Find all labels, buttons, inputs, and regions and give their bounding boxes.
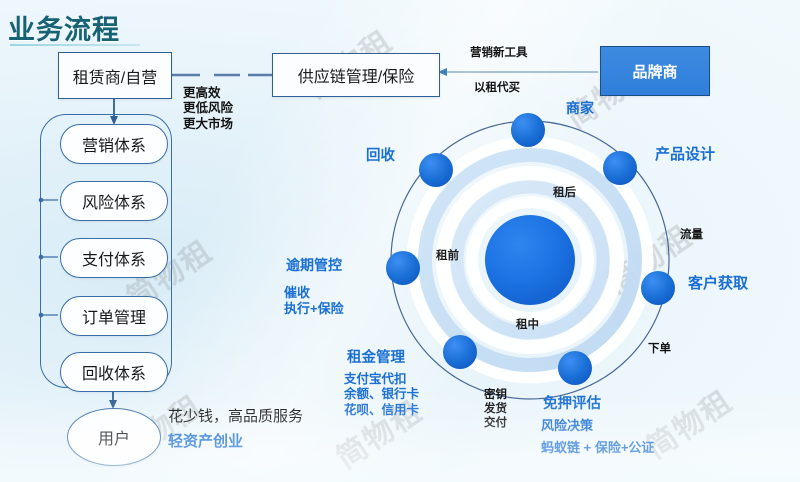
stack-item-recycling[interactable]: 回收体系: [60, 352, 168, 392]
label-slogan-primary: 花少钱，高品质服务: [168, 408, 303, 426]
box-supply-chain-insurance[interactable]: 供应链管理/保险: [272, 53, 440, 97]
annotation-rent-payment-methods: 支付宝代扣 余额、银行卡 花呗、信用卡: [344, 372, 419, 418]
ring-label-during-rental: 租中: [516, 318, 539, 332]
stack-item-order[interactable]: 订单管理: [60, 296, 168, 336]
label-slogan-secondary: 轻资产创业: [168, 433, 243, 451]
annotation-overdue-detail: 催收 执行+保险: [284, 285, 344, 317]
slide-canvas: 简物租 简物租 简物租 简物租 简物租 简物租 简物租: [0, 0, 800, 482]
ring-label-before-rental: 租前: [436, 249, 459, 263]
node-label-deposit-free-assessment[interactable]: 免押评估: [543, 396, 601, 414]
node-label-recycle[interactable]: 回收: [366, 148, 395, 166]
node-label-rent-management[interactable]: 租金管理: [347, 350, 405, 368]
node-label-merchant[interactable]: 商家: [566, 100, 594, 117]
node-label-customer-acquisition[interactable]: 客户获取: [688, 275, 748, 293]
page-title: 业务流程: [8, 8, 120, 47]
annotation-traffic: 流量: [680, 228, 703, 242]
node-label-overdue-control[interactable]: 逾期管控: [286, 257, 342, 274]
stack-item-payment[interactable]: 支付体系: [60, 238, 168, 278]
annotation-key-delivery: 密钥 发货 交付: [484, 388, 507, 430]
stack-item-risk[interactable]: 风险体系: [60, 181, 168, 221]
node-user[interactable]: 用户: [67, 408, 161, 466]
label-new-marketing-tool: 营销新工具: [470, 46, 528, 60]
node-label-product-design[interactable]: 产品设计: [655, 146, 715, 164]
annotation-chain-insurance-notary: 蚂蚁链 + 保险+公证: [541, 440, 654, 456]
label-benefits: 更高效 更低风险 更大市场: [183, 86, 233, 132]
box-brand-owner[interactable]: 品牌商: [600, 46, 710, 96]
title-underline: [10, 44, 140, 46]
box-rental-operator[interactable]: 租赁商/自营: [58, 52, 172, 99]
annotation-risk-decision: 风险决策: [541, 418, 593, 434]
annotation-place-order: 下单: [648, 342, 671, 356]
label-rent-instead-of-buy: 以租代买: [474, 81, 520, 95]
stack-item-marketing[interactable]: 营销体系: [60, 124, 168, 164]
ring-label-after-rental: 租后: [553, 186, 576, 200]
